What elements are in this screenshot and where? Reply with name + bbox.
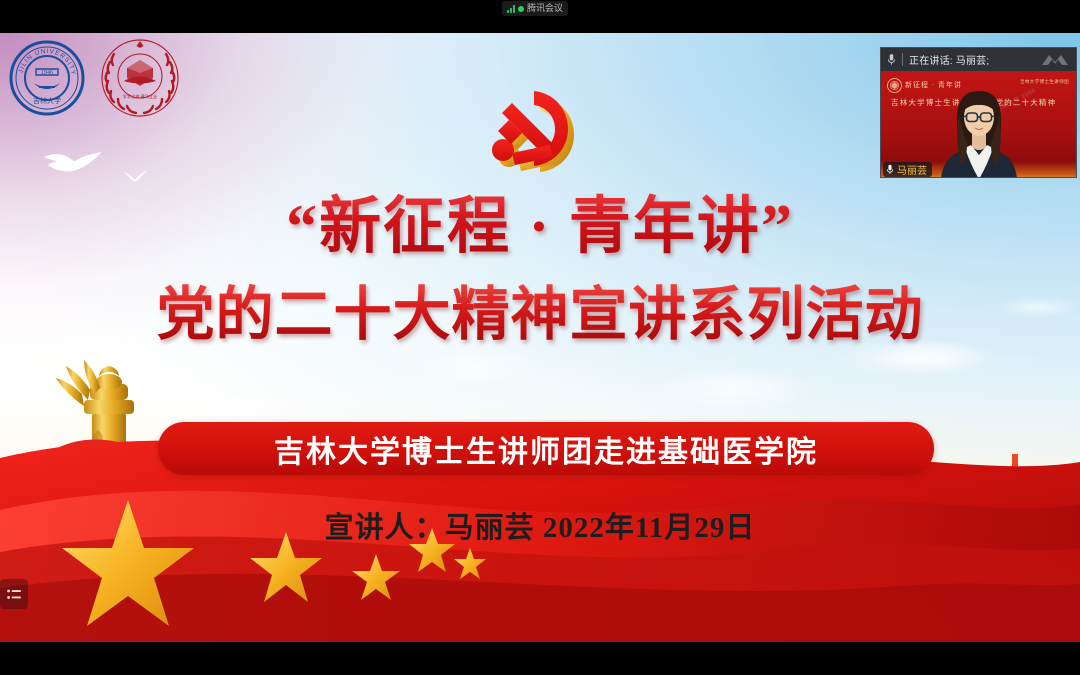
doctoral-lecturer-emblem: 学术之旅 建功立业 xyxy=(100,38,180,118)
speaker-line: 宣讲人：马丽芸 2022年11月29日 xyxy=(0,504,1080,546)
video-tile-body: 新征程 · 青年讲 吉林大学博士生讲师团走进党的二十大精神 吉林大学博士生讲师团… xyxy=(881,71,1076,178)
svg-text:学术之旅 建功立业: 学术之旅 建功立业 xyxy=(123,93,158,100)
top-letterbox-bar: 腾讯会议 xyxy=(0,0,1080,33)
list-menu-button[interactable] xyxy=(0,579,28,609)
event-banner-label: 吉林大学博士生讲师团走进基础医学院 xyxy=(274,427,818,471)
event-banner: 吉林大学博士生讲师团走进基础医学院 xyxy=(158,422,934,475)
speaking-status-label: 正在讲话: 马丽芸; xyxy=(909,52,989,67)
participant-name: 马丽芸 xyxy=(897,162,927,177)
svg-text:吉林大学: 吉林大学 xyxy=(33,96,61,105)
lecturer-team-seal xyxy=(887,78,902,93)
dove-icon-small xyxy=(122,169,148,183)
jilin-university-seal: 1946 吉林大学 JILIN UNIVERSITY · CHINA xyxy=(8,39,86,117)
flag-illustration: 中华人民共和国万岁 世界人民大团结万岁 xyxy=(0,342,1080,642)
meeting-badge-label: 腾讯会议 xyxy=(527,1,563,16)
presenter-video-image xyxy=(927,75,1031,178)
video-tile[interactable]: 正在讲话: 马丽芸; 新征程 · 青年讲 吉林大学博士生讲师团走进党的二十大精神… xyxy=(880,47,1077,178)
logo-row: 1946 吉林大学 JILIN UNIVERSITY · CHINA xyxy=(8,38,180,118)
tencent-meeting-logo-icon xyxy=(1041,53,1069,66)
svg-text:1946: 1946 xyxy=(41,70,53,76)
bottom-letterbox-bar xyxy=(0,642,1080,675)
page-title: “新征程 · 青年讲” xyxy=(0,192,1080,263)
page-subtitle: 党的二十大精神宣讲系列活动 xyxy=(0,280,1080,350)
signal-bars-icon xyxy=(507,5,515,13)
list-menu-icon xyxy=(7,588,22,601)
dove-icon xyxy=(42,149,104,179)
microphone-icon xyxy=(887,53,896,66)
meeting-status-badge[interactable]: 腾讯会议 xyxy=(502,1,568,16)
video-tile-header: 正在讲话: 马丽芸; xyxy=(881,48,1076,71)
participant-name-pill: 马丽芸 xyxy=(883,162,932,177)
header-divider xyxy=(902,53,903,66)
cpc-hammer-sickle-emblem xyxy=(484,87,600,194)
microphone-icon xyxy=(886,164,894,175)
screen-capture: 1946 吉林大学 JILIN UNIVERSITY · CHINA xyxy=(0,0,1080,675)
green-status-dot xyxy=(518,6,524,12)
